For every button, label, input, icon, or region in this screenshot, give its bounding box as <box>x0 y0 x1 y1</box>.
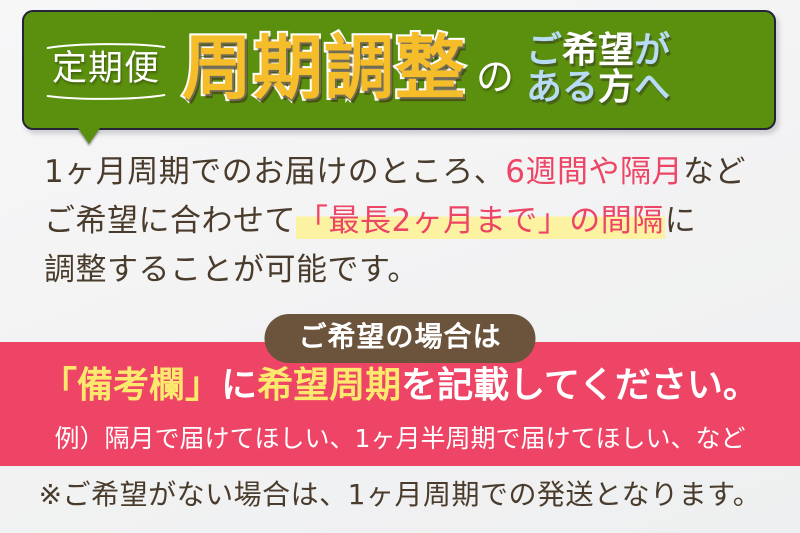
header-connector-particle: の <box>476 58 514 96</box>
wave-rule-bottom-icon <box>46 93 166 101</box>
text-run: に <box>665 203 697 239</box>
text-run: に <box>221 365 257 406</box>
text-run: 隔月 <box>620 154 683 190</box>
pink-example-line: 例）隔月で届けてほしい、1ヶ月半周期で届けてほしい、など <box>0 424 800 454</box>
text-run: を記載してください。 <box>401 365 759 406</box>
text-run: 方 <box>598 67 634 108</box>
text-run: など <box>683 154 746 190</box>
subscription-badge: 定期便 <box>46 48 166 93</box>
header-wish-line-1: ご希望が <box>526 33 670 70</box>
text-run: 調整することが可能です。 <box>44 252 419 288</box>
header-main-title: 周期調整 <box>182 33 466 107</box>
header-wish-text: ご希望が ある方へ <box>526 33 670 106</box>
request-case-pill: ご希望の場合は <box>264 314 535 363</box>
text-run: ご希望に合わせて <box>44 203 296 239</box>
text-run: 6週間 <box>505 154 588 190</box>
text-run: へ <box>634 67 670 108</box>
text-run: ご <box>526 30 562 71</box>
footer-default-note: ※ご希望がない場合は、1ヶ月周期での発送となります。 <box>0 478 800 512</box>
text-run: ある <box>526 67 598 108</box>
promo-banner: 定期便 周期調整 の ご希望が ある方へ 1ヶ月周期でのお届けのところ、6週間や… <box>0 0 800 533</box>
body-line-3: 調整することが可能です。 <box>44 246 774 295</box>
text-run: や <box>588 154 620 190</box>
text-run: 希望 <box>562 30 634 71</box>
body-paragraph: 1ヶ月周期でのお届けのところ、6週間や隔月など ご希望に合わせて「最長2ヶ月まで… <box>44 148 774 295</box>
text-run: 「最長2ヶ月まで」の間隔 <box>296 203 665 239</box>
header-green-panel: 定期便 周期調整 の ご希望が ある方へ <box>22 10 776 130</box>
text-run: 「備考欄」 <box>41 365 221 406</box>
text-run: 1ヶ月周期でのお届けのところ、 <box>44 154 505 190</box>
text-run: 希望周期 <box>257 365 401 406</box>
text-run: が <box>634 30 670 71</box>
body-line-2: ご希望に合わせて「最長2ヶ月まで」の間隔に <box>44 197 774 246</box>
subscription-badge-label: 定期便 <box>52 52 160 87</box>
pink-instruction-line: 「備考欄」に希望周期を記載してください。 <box>0 364 800 407</box>
body-line-1: 1ヶ月周期でのお届けのところ、6週間や隔月など <box>44 148 774 197</box>
wave-rule-top-icon <box>46 42 166 50</box>
header-wish-line-2: ある方へ <box>526 70 670 107</box>
speech-bubble-tail-icon <box>78 128 100 144</box>
